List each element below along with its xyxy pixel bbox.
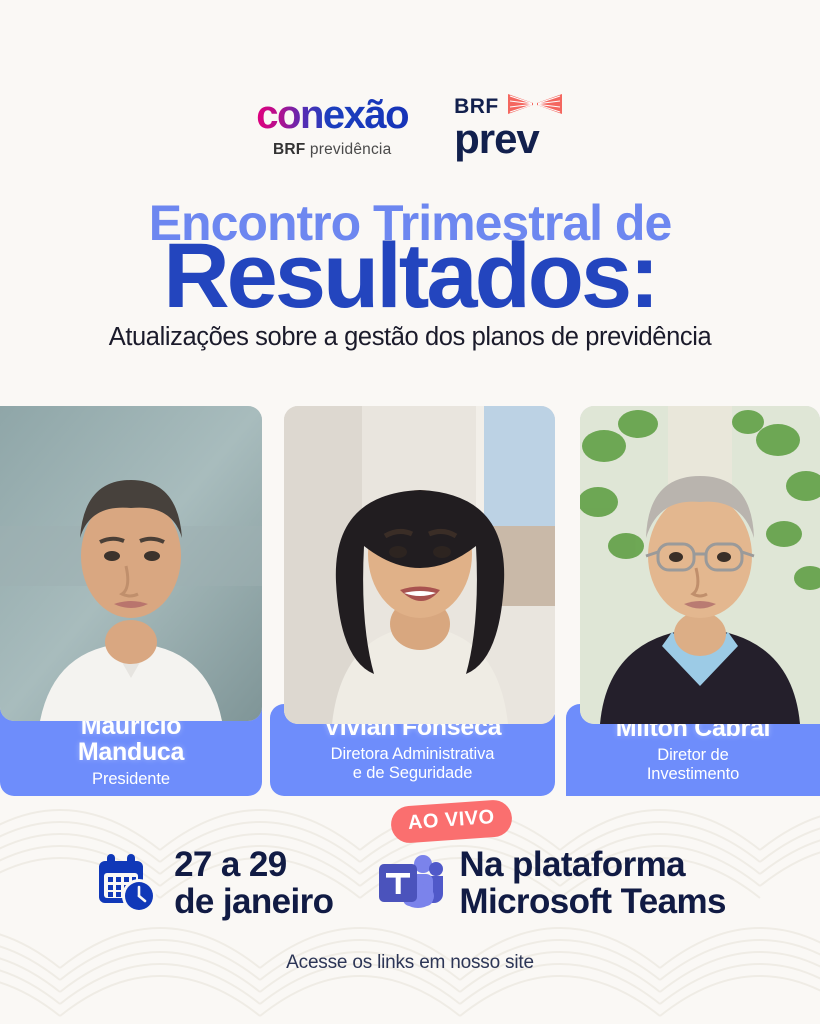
speaker-role: Diretor de Investimento — [647, 746, 739, 784]
footnote-text: Acesse os links em nosso site — [0, 952, 820, 974]
speaker-card-vivian-fonseca: Vivian Fonseca Diretora Administrativa e… — [270, 406, 555, 796]
speaker-photo — [0, 406, 262, 721]
conexao-tagline-bold: BRF — [273, 141, 305, 158]
speaker-role: Presidente — [92, 770, 170, 789]
headline-block: Encontro Trimestral de Resultados: Atual… — [0, 198, 820, 352]
conexao-wordmark: conexão — [256, 95, 408, 135]
brfprev-brf-text: BRF — [454, 96, 499, 117]
speakers-row: Mauricio Manduca Presidente — [0, 406, 820, 796]
conexao-tagline-rest: previdência — [305, 141, 391, 158]
conexao-tagline: BRF previdência — [273, 142, 391, 158]
speaker-card-mauricio-manduca: Mauricio Manduca Presidente — [0, 406, 262, 796]
speaker-role: Diretora Administrativa e de Seguridade — [331, 745, 495, 783]
microsoft-teams-icon — [377, 852, 443, 914]
live-badge: AO VIVO — [390, 799, 513, 844]
calendar-clock-icon — [94, 851, 158, 915]
headline-line-2: Resultados: — [0, 236, 820, 317]
conexao-logo: conexão BRF previdência — [256, 95, 408, 158]
speaker-photo — [580, 406, 820, 724]
brfprev-logo: BRF prev — [454, 92, 564, 160]
platform-block: AO VIVO Na plataforma Microsoft Teams — [377, 846, 726, 920]
logo-row: conexão BRF previdência BRF — [0, 92, 820, 160]
poster-canvas: conexão BRF previdência BRF — [0, 0, 820, 1024]
platform-text: Na plataforma Microsoft Teams — [459, 846, 726, 920]
date-text: 27 a 29 de janeiro — [174, 846, 333, 920]
speaker-photo — [284, 406, 555, 724]
speaker-card-milton-cabral: Milton Cabral Diretor de Investimento — [566, 406, 820, 796]
brfprev-prev-text: prev — [454, 118, 539, 160]
date-block: 27 a 29 de janeiro — [94, 846, 333, 920]
headline-subtitle: Atualizações sobre a gestão dos planos d… — [0, 323, 820, 352]
event-info-row: 27 a 29 de janeiro AO VIVO Na pla — [0, 846, 820, 920]
